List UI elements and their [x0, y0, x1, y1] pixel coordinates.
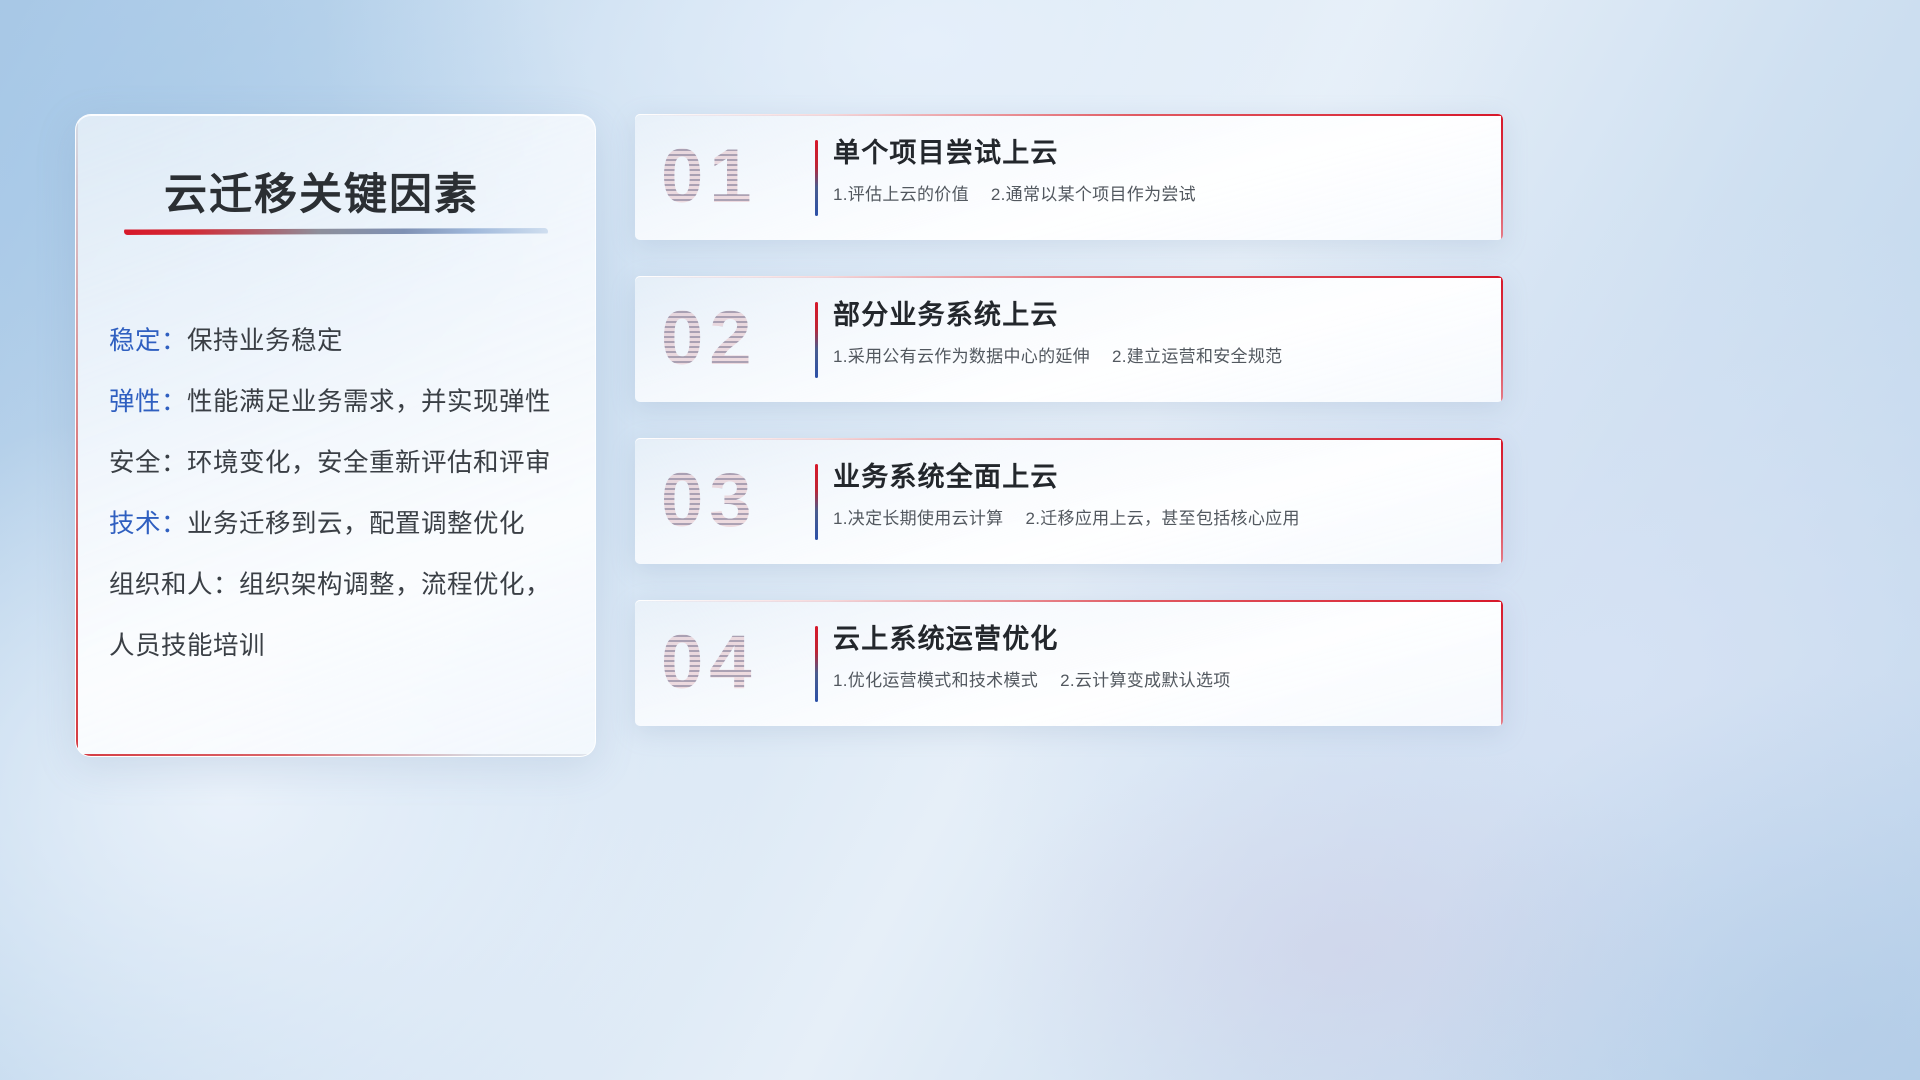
stage-number-watermark: 04 04: [661, 625, 758, 701]
stage-number-ghost: 03: [661, 463, 758, 539]
list-item-key: 安全：: [109, 449, 187, 477]
title-underline-gradient: [124, 228, 548, 235]
list-item-text: 业务迁移到云，配置调整优化: [187, 510, 525, 538]
stage-content: 业务系统全面上云 1.决定长期使用云计算2.迁移应用上云，甚至包括核心应用: [833, 460, 1479, 531]
stage-description: 1.采用公有云作为数据中心的延伸2.建立运营和安全规范: [833, 345, 1479, 369]
list-item-key: 弹性：: [109, 388, 187, 416]
stage-desc-1: 1.优化运营模式和技术模式: [833, 671, 1038, 690]
divider-bar: [815, 464, 818, 540]
stage-number-ghost: 01: [661, 139, 758, 215]
stage-number: 02: [661, 296, 758, 381]
stage-card-03[interactable]: 03 03 业务系统全面上云 1.决定长期使用云计算2.迁移应用上云，甚至包括核…: [635, 438, 1503, 564]
migration-stages-list: 01 01 单个项目尝试上云 1.评估上云的价值2.通常以某个项目作为尝试 02…: [635, 114, 1503, 762]
stage-number: 04: [661, 620, 758, 705]
list-item: 组织和人：组织架构调整，流程优化，: [109, 555, 571, 616]
list-item: 人员技能培训: [109, 616, 571, 677]
list-item-text: 性能满足业务需求，并实现弹性: [187, 388, 551, 416]
stage-description: 1.优化运营模式和技术模式2.云计算变成默认选项: [833, 669, 1479, 693]
list-item: 技术：业务迁移到云，配置调整优化: [109, 494, 571, 555]
key-factors-panel: 云迁移关键因素 稳定：保持业务稳定 弹性：性能满足业务需求，并实现弹性 安全：环…: [75, 114, 596, 757]
stage-number: 03: [661, 458, 758, 543]
divider-bar: [815, 626, 818, 702]
stage-number-ghost: 02: [661, 301, 758, 377]
stage-desc-2: 2.迁移应用上云，甚至包括核心应用: [1025, 509, 1299, 528]
stage-title: 业务系统全面上云: [833, 460, 1479, 495]
page-title: 云迁移关键因素: [164, 160, 479, 222]
list-item-key: 技术：: [109, 510, 187, 538]
stage-title: 部分业务系统上云: [833, 298, 1479, 333]
list-item: 安全：环境变化，安全重新评估和评审: [109, 433, 571, 494]
stage-card-01[interactable]: 01 01 单个项目尝试上云 1.评估上云的价值2.通常以某个项目作为尝试: [635, 114, 1503, 240]
stage-card-04[interactable]: 04 04 云上系统运营优化 1.优化运营模式和技术模式2.云计算变成默认选项: [635, 600, 1503, 726]
stage-card-02[interactable]: 02 02 部分业务系统上云 1.采用公有云作为数据中心的延伸2.建立运营和安全…: [635, 276, 1503, 402]
stage-desc-1: 1.决定长期使用云计算: [833, 509, 1003, 528]
stage-desc-1: 1.评估上云的价值: [833, 185, 969, 204]
stage-desc-2: 2.建立运营和安全规范: [1112, 347, 1282, 366]
stage-number-watermark: 01 01: [661, 139, 758, 215]
stage-number-watermark: 03 03: [661, 463, 758, 539]
divider-bar: [815, 140, 818, 216]
stage-content: 部分业务系统上云 1.采用公有云作为数据中心的延伸2.建立运营和安全规范: [833, 298, 1479, 369]
stage-desc-2: 2.通常以某个项目作为尝试: [991, 185, 1196, 204]
stage-description: 1.评估上云的价值2.通常以某个项目作为尝试: [833, 183, 1479, 207]
stage-title: 单个项目尝试上云: [833, 136, 1479, 171]
key-factors-list: 稳定：保持业务稳定 弹性：性能满足业务需求，并实现弹性 安全：环境变化，安全重新…: [109, 311, 571, 677]
list-item-text: 环境变化，安全重新评估和评审: [187, 449, 551, 477]
stage-content: 云上系统运营优化 1.优化运营模式和技术模式2.云计算变成默认选项: [833, 622, 1479, 693]
list-item: 稳定：保持业务稳定: [109, 311, 571, 372]
list-item-key: 稳定：: [109, 327, 187, 355]
divider-bar: [815, 302, 818, 378]
stage-description: 1.决定长期使用云计算2.迁移应用上云，甚至包括核心应用: [833, 507, 1479, 531]
stage-desc-1: 1.采用公有云作为数据中心的延伸: [833, 347, 1090, 366]
stage-number-watermark: 02 02: [661, 301, 758, 377]
list-item-text: 组织架构调整，流程优化，: [239, 571, 551, 599]
stage-desc-2: 2.云计算变成默认选项: [1060, 671, 1230, 690]
list-item-text: 保持业务稳定: [187, 327, 343, 355]
stage-number: 01: [661, 134, 758, 219]
stage-title: 云上系统运营优化: [833, 622, 1479, 657]
stage-number-ghost: 04: [661, 625, 758, 701]
stage-content: 单个项目尝试上云 1.评估上云的价值2.通常以某个项目作为尝试: [833, 136, 1479, 207]
list-item-text: 人员技能培训: [109, 632, 265, 660]
list-item-key: 组织和人：: [109, 571, 239, 599]
list-item: 弹性：性能满足业务需求，并实现弹性: [109, 372, 571, 433]
